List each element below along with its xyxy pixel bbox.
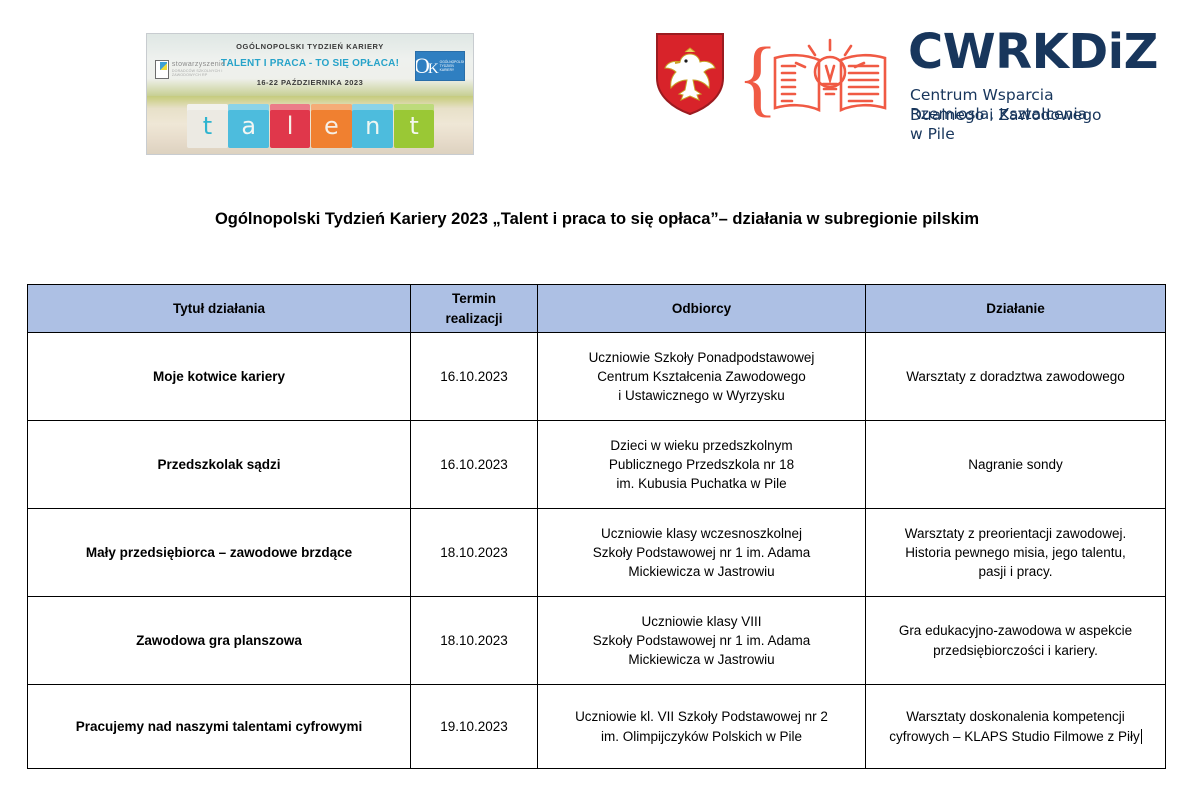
cell-action: Nagranie sondy	[866, 421, 1166, 509]
cell-action-line: pasji i pracy.	[872, 562, 1159, 581]
cell-audience: Uczniowie Szkoły Ponadpodstawowej Centru…	[538, 333, 866, 421]
table-body: Moje kotwice kariery 16.10.2023 Uczniowi…	[28, 333, 1166, 769]
stowarzyszenie-logo: stowarzyszenie DORADCÓW SZKOLNYCH I ZAWO…	[155, 56, 241, 82]
stowarzyszenie-text: stowarzyszenie DORADCÓW SZKOLNYCH I ZAWO…	[172, 61, 241, 77]
cell-audience-line: im. Olimpijczyków Polskich w Pile	[544, 727, 859, 746]
cell-audience-line: Uczniowie Szkoły Ponadpodstawowej	[544, 348, 859, 367]
stowarzyszenie-label: stowarzyszenie	[172, 61, 225, 68]
cell-audience-line: Uczniowie klasy wczesnoszkolnej	[544, 524, 859, 543]
cell-action-line: Warsztaty z preorientacji zawodowej.	[872, 524, 1159, 543]
table-header: Tytuł działania Termin realizacji Odbior…	[28, 285, 1166, 333]
cell-title: Przedszkolak sądzi	[28, 421, 411, 509]
talent-block-letter: e	[311, 104, 352, 148]
cell-audience-line: Mickiewicza w Jastrowiu	[544, 562, 859, 581]
cell-audience-line: im. Kubusia Puchatka w Pile	[544, 474, 859, 493]
talent-block-letter: a	[228, 104, 269, 148]
banner-line-1: OGÓLNOPOLSKI TYDZIEŃ KARIERY	[147, 42, 473, 51]
document-page: OGÓLNOPOLSKI TYDZIEŃ KARIERY TALENT I PR…	[0, 0, 1194, 789]
table-row: Pracujemy nad naszymi talentami cyfrowym…	[28, 685, 1166, 769]
cell-audience-line: Centrum Kształcenia Zawodowego	[544, 367, 859, 386]
cwrkdiz-logo: { CWRK	[655, 30, 1105, 135]
column-header-action-line: Działanie	[870, 299, 1161, 318]
cell-date: 18.10.2023	[411, 509, 538, 597]
cell-audience: Uczniowie klasy VIII Szkoły Podstawowej …	[538, 597, 866, 685]
cell-date: 19.10.2023	[411, 685, 538, 769]
header-logos: OGÓLNOPOLSKI TYDZIEŃ KARIERY TALENT I PR…	[0, 0, 1194, 175]
column-header-title: Tytuł działania	[28, 285, 411, 333]
cell-action: Warsztaty z preorientacji zawodowej. His…	[866, 509, 1166, 597]
talent-block-letter: t	[187, 104, 228, 148]
otk-letter-k: K	[428, 62, 439, 77]
cell-action-line: Gra edukacyjno-zawodowa w aspekcie	[872, 621, 1159, 640]
cell-audience: Dzieci w wieku przedszkolnym Publicznego…	[538, 421, 866, 509]
cell-action-line: cyfrowych – KLAPS Studio Filmowe z Piły	[889, 729, 1140, 744]
cell-title: Zawodowa gra planszowa	[28, 597, 411, 685]
cell-action: Warsztaty doskonalenia kompetencji cyfro…	[866, 685, 1166, 769]
cwrkdiz-acronym: CWRKDiZ	[908, 28, 1158, 76]
stowarzyszenie-sublabel: DORADCÓW SZKOLNYCH I ZAWODOWYCH RP	[172, 69, 241, 77]
activities-table-wrapper: Tytuł działania Termin realizacji Odbior…	[27, 284, 1165, 769]
talent-block-letter: n	[352, 104, 393, 148]
activities-table: Tytuł działania Termin realizacji Odbior…	[27, 284, 1166, 769]
otk-banner-image: OGÓLNOPOLSKI TYDZIEŃ KARIERY TALENT I PR…	[146, 33, 474, 155]
cell-audience: Uczniowie kl. VII Szkoły Podstawowej nr …	[538, 685, 866, 769]
cell-action-line-with-caret: cyfrowych – KLAPS Studio Filmowe z Piły	[872, 727, 1159, 746]
cwrkdiz-subtitle-line-2: Dualnego i Zawodowego w Pile	[910, 106, 1105, 145]
page-title: Ogólnopolski Tydzień Kariery 2023 „Talen…	[0, 210, 1194, 229]
cell-audience-line: Publicznego Przedszkola nr 18	[544, 455, 859, 474]
cell-action: Gra edukacyjno-zawodowa w aspekcie przed…	[866, 597, 1166, 685]
cell-audience-line: i Ustawicznego w Wyrzysku	[544, 386, 859, 405]
banner-top-area: OGÓLNOPOLSKI TYDZIEŃ KARIERY TALENT I PR…	[147, 34, 473, 96]
stowarzyszenie-mark-icon	[155, 60, 169, 79]
cell-audience-line: Szkoły Podstawowej nr 1 im. Adama	[544, 543, 859, 562]
cell-action-line: Warsztaty z doradztwa zawodowego	[872, 367, 1159, 386]
cell-date: 18.10.2023	[411, 597, 538, 685]
talent-block-letter: t	[394, 104, 435, 148]
cell-title: Mały przedsiębiorca – zawodowe brzdące	[28, 509, 411, 597]
cell-title: Pracujemy nad naszymi talentami cyfrowym…	[28, 685, 411, 769]
otk-logo: O K OGÓLNOPOLSKI TYDZIEŃ KARIERY	[415, 51, 465, 81]
column-header-title-line: Tytuł działania	[32, 299, 406, 318]
wielkopolska-coat-of-arms-icon	[655, 32, 725, 116]
column-header-date-line-1: Termin	[415, 289, 533, 308]
cell-audience-line: Uczniowie kl. VII Szkoły Podstawowej nr …	[544, 707, 859, 726]
cell-action-line: przedsiębiorczości i kariery.	[872, 641, 1159, 660]
cell-action: Warsztaty z doradztwa zawodowego	[866, 333, 1166, 421]
cell-action-line: Nagranie sondy	[872, 455, 1159, 474]
otk-small-text: OGÓLNOPOLSKI TYDZIEŃ KARIERY	[440, 60, 465, 72]
cell-audience-line: Uczniowie klasy VIII	[544, 612, 859, 631]
cell-action-line: Warsztaty doskonalenia kompetencji	[872, 707, 1159, 726]
cell-date: 16.10.2023	[411, 421, 538, 509]
talent-blocks: t a l e n t	[187, 96, 435, 148]
cell-date: 16.10.2023	[411, 333, 538, 421]
cell-title: Moje kotwice kariery	[28, 333, 411, 421]
table-row: Moje kotwice kariery 16.10.2023 Uczniowi…	[28, 333, 1166, 421]
table-row: Mały przedsiębiorca – zawodowe brzdące 1…	[28, 509, 1166, 597]
cell-audience-line: Dzieci w wieku przedszkolnym	[544, 436, 859, 455]
column-header-audience-line: Odbiorcy	[542, 299, 861, 318]
cell-audience-line: Szkoły Podstawowej nr 1 im. Adama	[544, 631, 859, 650]
cell-audience-line: Mickiewicza w Jastrowiu	[544, 650, 859, 669]
table-header-row: Tytuł działania Termin realizacji Odbior…	[28, 285, 1166, 333]
talent-block-letter: l	[270, 104, 311, 148]
book-lightbulb-icon	[765, 36, 895, 116]
cell-action-line: Historia pewnego misia, jego talentu,	[872, 543, 1159, 562]
column-header-date-line-2: realizacji	[415, 309, 533, 328]
column-header-date: Termin realizacji	[411, 285, 538, 333]
column-header-action: Działanie	[866, 285, 1166, 333]
table-row: Przedszkolak sądzi 16.10.2023 Dzieci w w…	[28, 421, 1166, 509]
table-row: Zawodowa gra planszowa 18.10.2023 Ucznio…	[28, 597, 1166, 685]
cell-audience: Uczniowie klasy wczesnoszkolnej Szkoły P…	[538, 509, 866, 597]
text-cursor	[1141, 729, 1142, 744]
column-header-audience: Odbiorcy	[538, 285, 866, 333]
